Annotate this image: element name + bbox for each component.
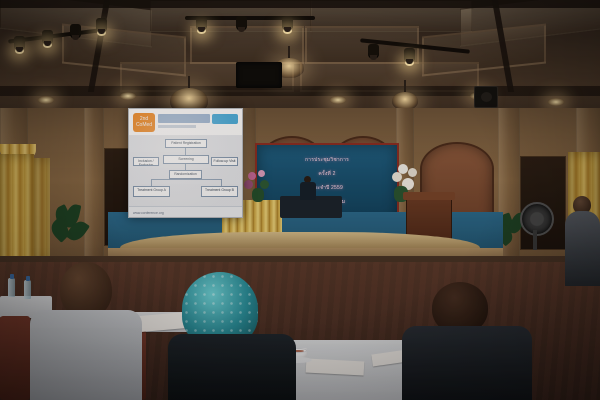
diagram-connector <box>185 148 186 155</box>
diagram-node: Patient Registration <box>165 139 207 148</box>
backdrop-line-1: การประชุมวิชาการ <box>257 157 397 163</box>
attendee-body <box>30 310 142 400</box>
slide-title-bar <box>158 114 210 123</box>
spotlight-icon <box>42 30 53 44</box>
presenter-body <box>300 182 316 200</box>
attendee-body <box>402 326 532 400</box>
presenter <box>300 176 316 200</box>
diagram-connector <box>151 179 221 180</box>
conference-logo-badge: 2nd CoMed <box>133 113 155 132</box>
backdrop-line-3: ประจำปี 2559 <box>257 185 397 191</box>
pedestal-fan <box>520 202 550 236</box>
photo-scene: การประชุมวิชาการ ครั้งที่ 2 ประจำปี 2559… <box>0 0 600 400</box>
attendee-silhouette <box>30 262 142 400</box>
water-bottle <box>8 278 15 297</box>
spotlight-icon <box>236 16 247 30</box>
spotlight-icon <box>196 16 207 30</box>
handout-papers <box>306 358 365 375</box>
fan-cage-icon <box>520 202 554 236</box>
floral-arrangement-left <box>242 170 276 210</box>
diagram-node: Randomization <box>169 170 202 179</box>
downlight <box>120 92 136 100</box>
diagram-node: Treatment Group B <box>201 186 238 197</box>
downlight <box>330 96 346 104</box>
potted-plant-left <box>52 204 86 258</box>
diagram-node: Follow-up Visit <box>211 157 238 166</box>
slide-footer-text: www.conference.org <box>133 211 164 215</box>
attendee-silhouette <box>402 282 532 400</box>
spotlight-icon <box>70 24 81 38</box>
slide-header: 2nd CoMed <box>129 109 242 135</box>
attendee-body <box>565 211 600 286</box>
attendee-body <box>168 334 296 400</box>
spotlight-icon <box>14 36 25 50</box>
curtain-left <box>0 154 34 270</box>
spotlight-icon <box>404 48 415 62</box>
downlight <box>38 96 54 104</box>
spotlight-icon <box>96 18 107 32</box>
ceiling <box>0 0 600 120</box>
diagram-node: Screening <box>163 155 209 164</box>
diagram-node: Inclusion / Exclusion <box>133 157 159 166</box>
spotlight-icon <box>368 44 379 58</box>
backdrop-line-2: ครั้งที่ 2 <box>257 171 397 177</box>
projection-screen: 2nd CoMed Patient Registration Screening… <box>128 108 243 218</box>
attendee-silhouette-headscarf <box>168 272 296 400</box>
ceiling-speaker <box>474 86 498 108</box>
fan-stand <box>533 230 537 250</box>
spotlight-icon <box>282 16 293 30</box>
slide-subtitle-bar <box>158 125 196 128</box>
diagram-connector <box>221 179 222 186</box>
logo-badge-line2: CoMed <box>133 122 155 128</box>
diagram-connector <box>151 179 152 186</box>
downlight <box>548 98 564 106</box>
ceiling-projector <box>236 62 282 88</box>
chair-back <box>0 316 30 400</box>
sponsor-logo <box>212 114 238 124</box>
curtain-left-2 <box>34 158 50 262</box>
attendee-silhouette-far-right <box>565 196 600 286</box>
diagram-node: Treatment Group A <box>133 186 170 197</box>
